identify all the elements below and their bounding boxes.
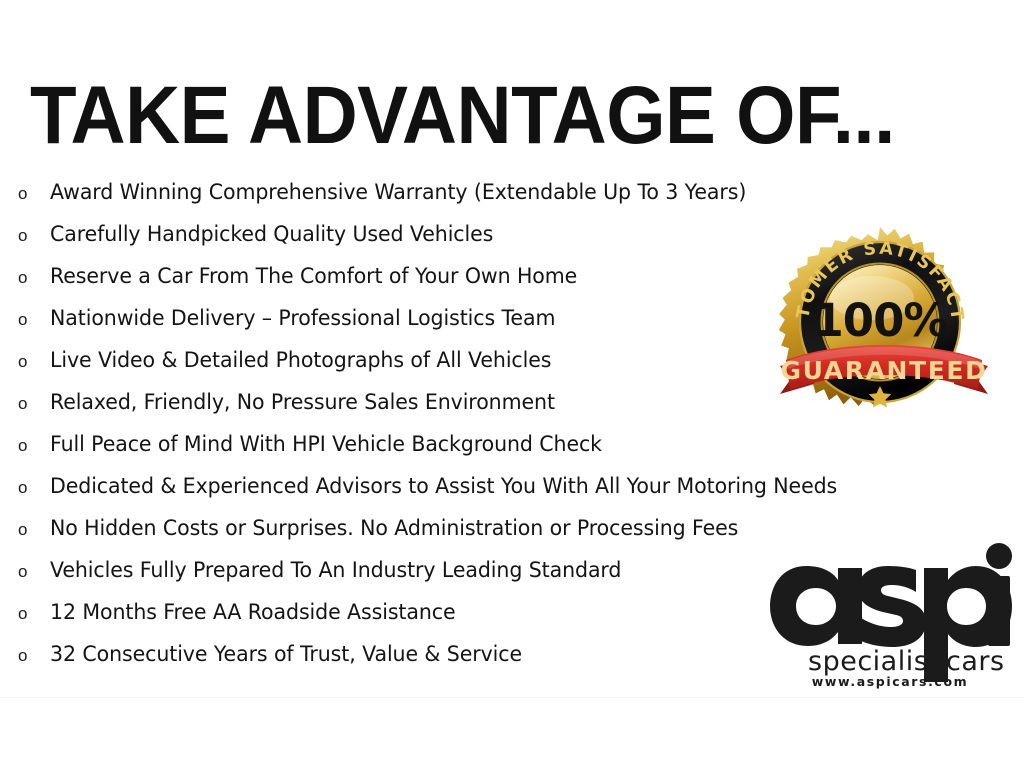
bullet-circle-icon: o (16, 299, 50, 341)
customer-satisfaction-guarantee-seal-icon: CUSTOMER SATISFACTION 100% GUARANTEED (770, 226, 998, 418)
badge-center-text: 100% (812, 294, 947, 347)
benefit-item-label: Reserve a Car From The Comfort of Your O… (50, 256, 577, 298)
bullet-circle-icon: o (16, 383, 50, 425)
benefit-item-label: Nationwide Delivery – Professional Logis… (50, 298, 555, 340)
bullet-circle-icon: o (16, 425, 50, 467)
benefit-item-label: Relaxed, Friendly, No Pressure Sales Env… (50, 382, 555, 424)
benefit-item-label: Vehicles Fully Prepared To An Industry L… (50, 550, 621, 592)
logo-tagline-separator (924, 646, 941, 672)
bullet-circle-icon: o (16, 635, 50, 677)
benefit-item-label: 12 Months Free AA Roadside Assistance (50, 592, 456, 634)
bullet-circle-icon: o (16, 593, 50, 635)
page-title: TAKE ADVANTAGE OF... (30, 74, 895, 158)
footer-divider (0, 697, 1024, 698)
benefit-item-label: No Hidden Costs or Surprises. No Adminis… (50, 508, 738, 550)
benefit-item: oDedicated & Experienced Advisors to Ass… (16, 466, 996, 508)
bullet-circle-icon: o (16, 341, 50, 383)
benefit-item: oFull Peace of Mind With HPI Vehicle Bac… (16, 424, 996, 466)
logo-website: www.aspicars.com (812, 674, 969, 689)
benefit-item: oAward Winning Comprehensive Warranty (E… (16, 172, 996, 214)
logo-letter-i (986, 543, 1012, 646)
benefit-item-label: 32 Consecutive Years of Trust, Value & S… (50, 634, 522, 676)
logo-tagline-right: cars (946, 646, 1005, 677)
slide-canvas: TAKE ADVANTAGE OF... oAward Winning Comp… (0, 0, 1024, 768)
bullet-circle-icon: o (16, 551, 50, 593)
benefit-item-label: Dedicated & Experienced Advisors to Assi… (50, 466, 837, 508)
benefit-item-label: Carefully Handpicked Quality Used Vehicl… (50, 214, 493, 256)
bullet-circle-icon: o (16, 509, 50, 551)
aspi-specialist-cars-logo: specialist cars www.aspicars.com (766, 542, 1014, 690)
bullet-circle-icon: o (16, 173, 50, 215)
logo-tagline-left: specialist (808, 646, 939, 677)
benefit-item-label: Live Video & Detailed Photographs of All… (50, 340, 551, 382)
benefit-item-label: Full Peace of Mind With HPI Vehicle Back… (50, 424, 602, 466)
bullet-circle-icon: o (16, 215, 50, 257)
bullet-circle-icon: o (16, 257, 50, 299)
badge-ribbon-text: GUARANTEED (781, 356, 988, 385)
benefit-item-label: Award Winning Comprehensive Warranty (Ex… (50, 172, 746, 214)
bullet-circle-icon: o (16, 467, 50, 509)
